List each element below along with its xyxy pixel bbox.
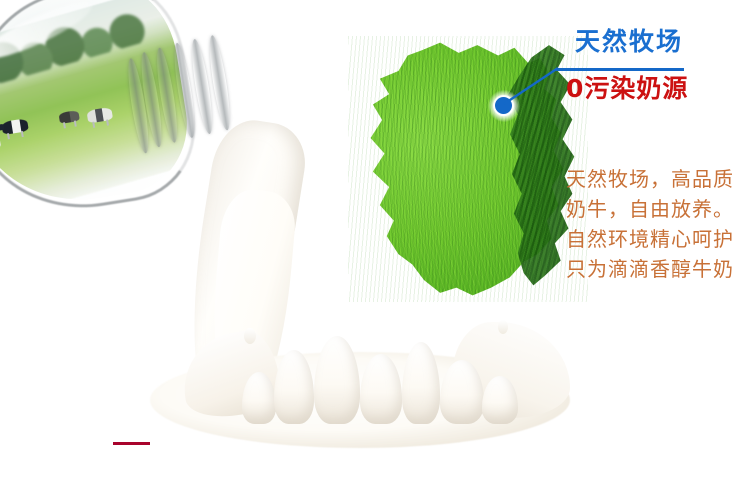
promo-banner: 天然牧场 0污染奶源 天然牧场，高品质 奶牛，自由放养。 自然环境精心呵护 只为… xyxy=(0,0,750,493)
crimson-rule xyxy=(113,442,150,445)
body-copy-line-2: 奶牛，自由放养。 xyxy=(566,194,750,224)
body-copy-line-4: 只为滴滴香醇牛奶 xyxy=(566,254,750,284)
splash-lobe xyxy=(402,342,440,424)
milk-splash-crown xyxy=(236,306,536,434)
splash-lobe xyxy=(314,336,360,424)
splash-lobe xyxy=(360,354,402,424)
splash-lobe xyxy=(440,360,484,424)
location-marker-icon[interactable] xyxy=(495,97,512,114)
splash-lobe xyxy=(242,372,276,424)
splash-lobe xyxy=(482,376,518,424)
milk-droplet xyxy=(244,328,256,344)
page-title: 天然牧场 xyxy=(575,29,683,54)
splash-lobe xyxy=(274,350,314,424)
title-divider xyxy=(556,68,684,71)
page-subtitle: 0污染奶源 xyxy=(566,76,688,101)
milk-droplet xyxy=(498,320,508,334)
body-copy-line-3: 自然环境精心呵护 xyxy=(566,224,750,254)
grass-map-of-ireland xyxy=(352,40,584,298)
body-copy-line-1: 天然牧场，高品质 xyxy=(566,164,750,194)
body-copy: 天然牧场，高品质 奶牛，自由放养。 自然环境精心呵护 只为滴滴香醇牛奶 xyxy=(566,164,750,284)
